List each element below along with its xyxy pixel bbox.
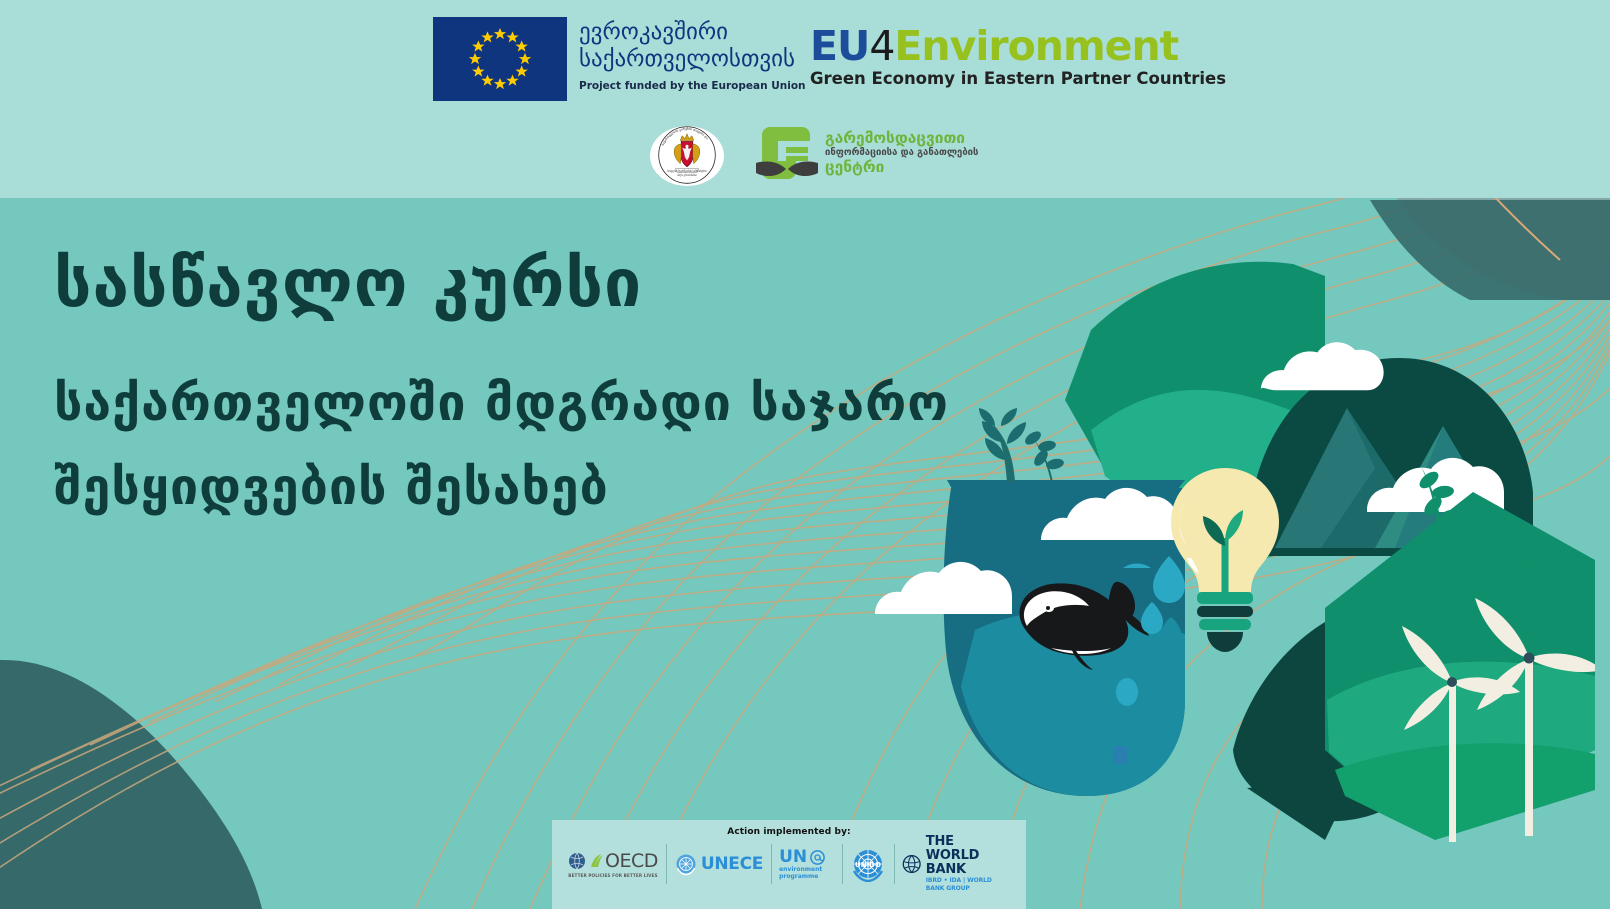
- oecd-label: OECD: [605, 850, 658, 872]
- eu-label-line1: ევროკავშირი: [579, 19, 806, 46]
- eiec-logo: გარემოსდაცვითი ინფორმაციისა და განათლები…: [756, 127, 978, 185]
- page-title: სასწავლო კურსი: [54, 245, 949, 323]
- unece-label: UNECE: [701, 854, 763, 874]
- eu4env-eu-text: EU: [810, 22, 869, 70]
- worldbank-tagline: IBRD • IDA | WORLD BANK GROUP: [926, 877, 1010, 893]
- georgia-coat-of-arms-icon: საქართველოს გარემოს დაცვისა და სოფლის მე…: [650, 126, 724, 186]
- eu-stars-icon: [433, 17, 567, 101]
- title-block: სასწავლო კურსი საქართველოში მდგრადი საჯა…: [54, 245, 949, 529]
- poster-root: ევროკავშირი საქართველოსთვის Project fund…: [0, 0, 1610, 909]
- partner-logos-strip: Action implemented by: OECD: [552, 820, 1026, 909]
- partner-logo-unep: UN environment programme: [771, 842, 842, 886]
- partner-logo-worldbank: THE WORLD BANK IBRD • IDA | WORLD BANK G…: [894, 842, 1018, 886]
- worldbank-label: THE WORLD BANK: [926, 835, 1010, 877]
- worldbank-globe-icon: [902, 849, 921, 879]
- eiec-logo-text: გარემოსდაცვითი ინფორმაციისა და განათლები…: [825, 127, 978, 176]
- un-at-icon: [810, 850, 825, 865]
- eu4env-four-text: 4: [869, 22, 894, 70]
- oecd-tagline: BETTER POLICIES FOR BETTER LIVES: [568, 873, 657, 878]
- eu4environment-subtitle: Green Economy in Eastern Partner Countri…: [810, 69, 1226, 89]
- plant-leaf-icon-2: [1023, 429, 1065, 471]
- unido-globe-icon: UNIDO: [850, 846, 886, 882]
- eu-funding-note: Project funded by the European Union: [579, 80, 806, 92]
- eu4environment-wordmark: EU4Environment: [810, 24, 1226, 68]
- partner-logo-oecd: OECD BETTER POLICIES FOR BETTER LIVES: [560, 842, 666, 886]
- svg-text:სოფლის მეურნეობის სამინისტრო: სოფლის მეურნეობის სამინისტრო: [667, 170, 707, 173]
- eu4env-environment-text: Environment: [894, 22, 1178, 70]
- page-subtitle-line2: შესყიდვების შესახებ: [54, 445, 949, 529]
- svg-text:UNIDO: UNIDO: [855, 861, 881, 869]
- oecd-globe-icon: [568, 851, 588, 871]
- plant-sprig-1: [979, 408, 1026, 460]
- eu-label-line2: საქართველოსთვის: [579, 46, 806, 73]
- coat-of-arms-graphic: საქართველოს გარემოს დაცვისა და სოფლის მე…: [650, 126, 724, 186]
- eu4environment-logo: EU4Environment Green Economy in Eastern …: [810, 24, 1226, 89]
- partner-logo-unido: UNIDO: [842, 842, 894, 886]
- partner-logo-row: OECD BETTER POLICIES FOR BETTER LIVES UN…: [552, 842, 1026, 886]
- eu-emblem-block: ევროკავშირი საქართველოსთვის Project fund…: [433, 17, 806, 101]
- oecd-swoosh-icon: [590, 853, 603, 869]
- footer-caption: Action implemented by:: [727, 827, 851, 837]
- unep-tagline: environment programme: [779, 866, 834, 880]
- svg-text:ძალა ერთობაშია: ძალა ერთობაშია: [677, 174, 697, 177]
- un-wreath-icon: [674, 852, 698, 876]
- eiec-line1: გარემოსდაცვითი: [825, 130, 978, 147]
- unep-un-label: UN: [779, 849, 807, 866]
- partner-logo-unece: UNECE: [666, 842, 771, 886]
- eiec-line3: ცენტრი: [825, 159, 978, 176]
- header-band: ევროკავშირი საქართველოსთვის Project fund…: [0, 0, 1610, 198]
- page-subtitle-line1: საქართველოში მდგრადი საჯარო: [54, 361, 949, 445]
- green-economy-recycling-illustration: [855, 230, 1595, 850]
- eiec-mark-graphic: [756, 127, 818, 185]
- eu-flag-icon: [433, 17, 567, 101]
- eu-emblem-text: ევროკავშირი საქართველოსთვის Project fund…: [579, 17, 806, 92]
- eiec-book-icon: [756, 127, 818, 185]
